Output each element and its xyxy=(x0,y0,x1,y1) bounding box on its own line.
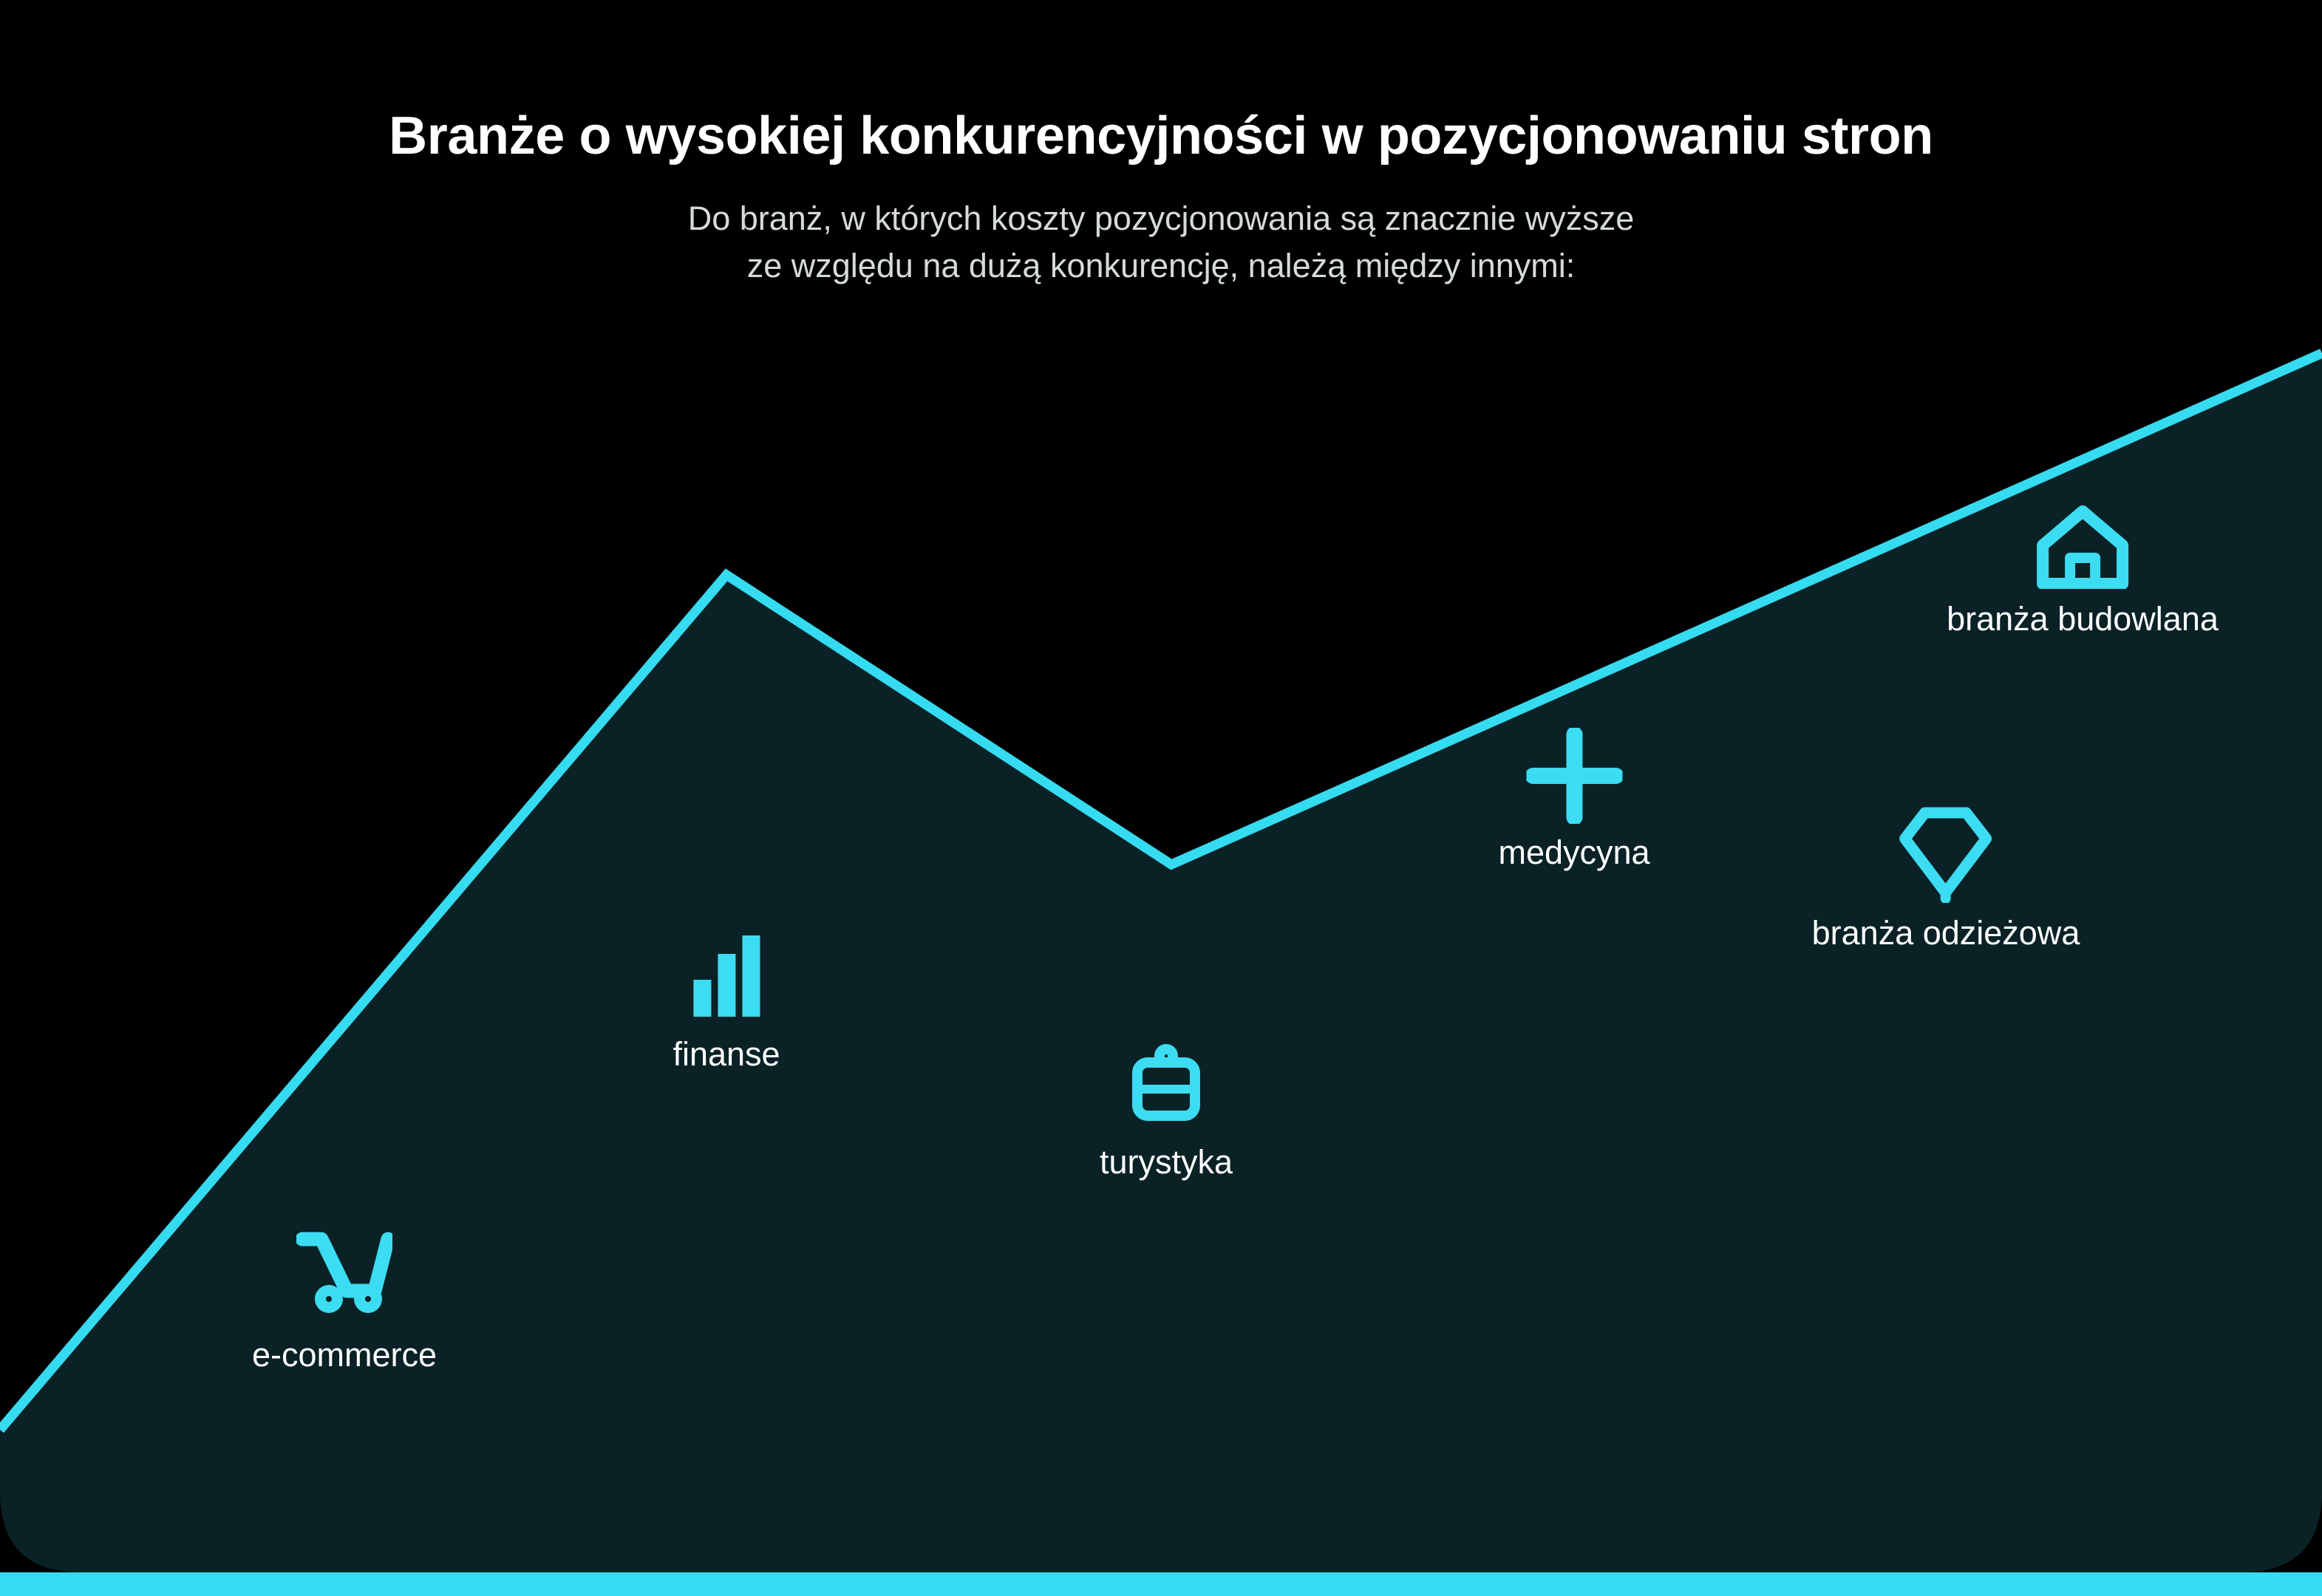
bar-chart-icon xyxy=(673,934,780,1017)
diamond-icon xyxy=(1812,805,2080,903)
infographic-canvas: Branże o wysokiej konkurencyjności w poz… xyxy=(0,0,2322,1596)
industry-label-medycyna: medycyna xyxy=(1498,836,1649,869)
industry-marker-medycyna[interactable]: medycyna xyxy=(1498,728,1649,869)
header: Branże o wysokiej konkurencyjności w poz… xyxy=(0,0,2322,290)
industry-label-budowlana: branża budowlana xyxy=(1947,602,2219,635)
page-title: Branże o wysokiej konkurencyjności w poz… xyxy=(0,0,2322,163)
industry-marker-budowlana[interactable]: branża budowlana xyxy=(1947,505,2219,635)
industry-marker-odziezowa[interactable]: branża odzieżowa xyxy=(1812,805,2080,949)
industry-marker-ecommerce[interactable]: e-commerce xyxy=(252,1223,437,1371)
subtitle-line-1: Do branż, w których koszty pozycjonowani… xyxy=(0,195,2322,242)
industry-label-ecommerce: e-commerce xyxy=(252,1338,437,1371)
industry-label-turystyka: turystyka xyxy=(1100,1145,1233,1179)
industry-marker-finanse[interactable]: finanse xyxy=(673,934,780,1071)
bottom-accent-band xyxy=(0,1572,2322,1596)
shopping-cart-icon xyxy=(252,1223,437,1313)
medical-cross-icon xyxy=(1498,728,1649,824)
industry-label-finanse: finanse xyxy=(673,1037,780,1071)
industry-label-odziezowa: branża odzieżowa xyxy=(1812,916,2080,949)
house-icon xyxy=(1947,505,2219,589)
industry-marker-turystyka[interactable]: turystyka xyxy=(1100,1043,1233,1179)
suitcase-icon xyxy=(1100,1043,1233,1126)
subtitle-line-2: ze względu na dużą konkurencję, należą m… xyxy=(0,242,2322,290)
page-subtitle: Do branż, w których koszty pozycjonowani… xyxy=(0,163,2322,290)
